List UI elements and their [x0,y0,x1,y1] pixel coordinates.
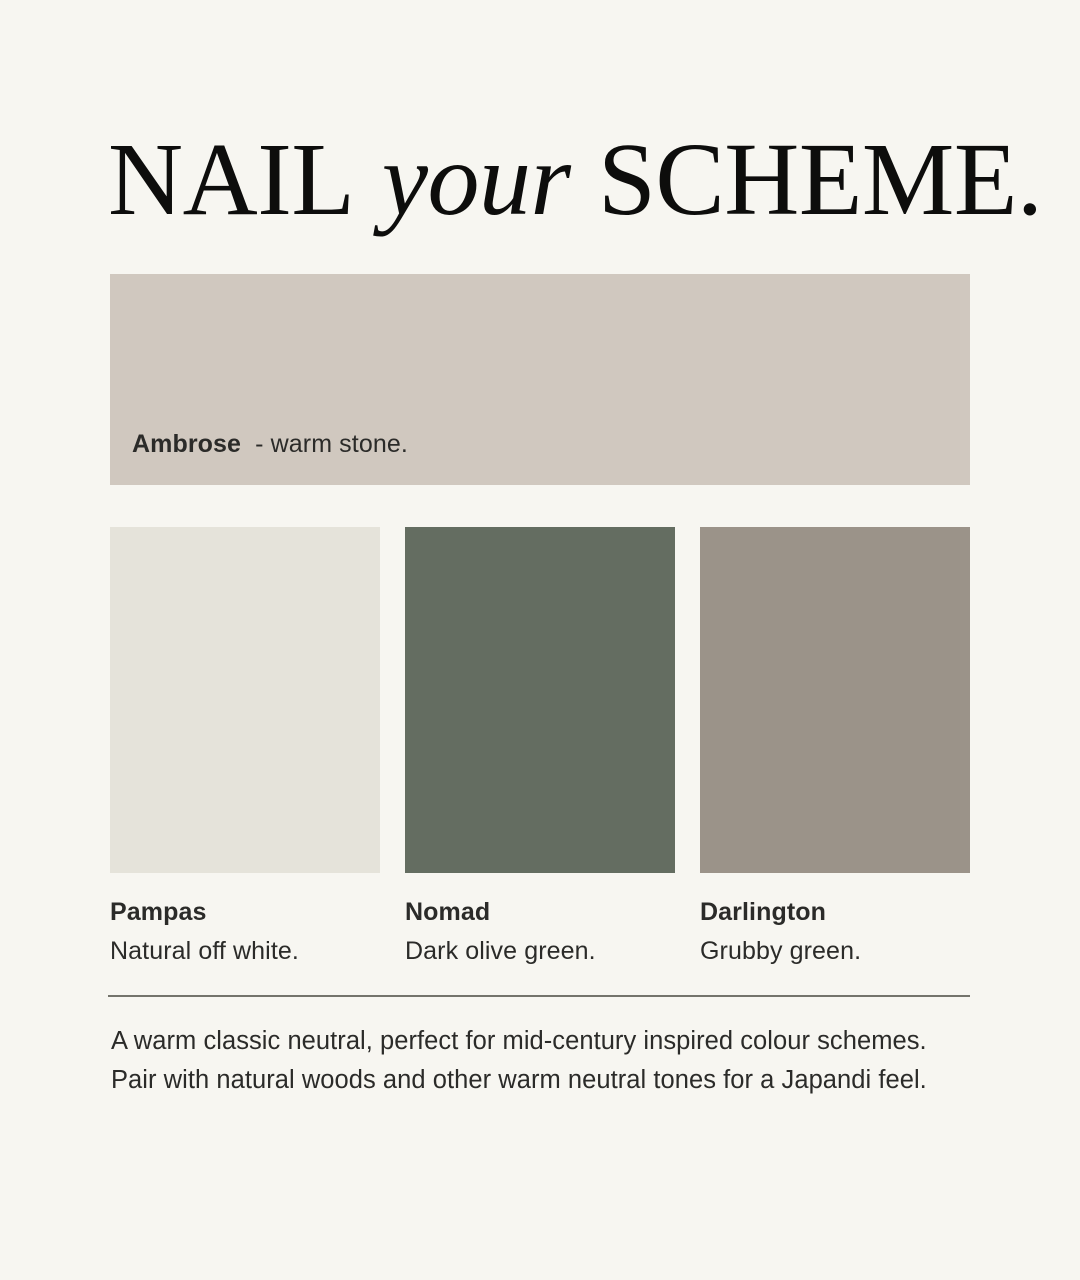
title-emphasis-word: your [380,122,573,237]
swatch-chip-pampas [110,527,380,873]
swatch-item-nomad: Nomad Dark olive green. [405,527,675,966]
swatch-description-nomad: Dark olive green. [405,936,675,966]
description-paragraph: A warm classic neutral, perfect for mid-… [111,1022,973,1100]
title-part-one: NAIL [108,122,354,237]
swatch-description-pampas: Natural off white. [110,936,380,966]
page-title: NAIL your SCHEME. [108,128,978,232]
hero-swatch-label: Ambrose - warm stone. [132,429,408,459]
color-palette-card: NAIL your SCHEME. Ambrose - warm stone. … [0,0,1080,1280]
swatch-chip-nomad [405,527,675,873]
swatch-item-darlington: Darlington Grubby green. [700,527,970,966]
swatch-chip-darlington [700,527,970,873]
hero-swatch-description: - warm stone. [255,430,408,458]
swatch-name-pampas: Pampas [110,897,380,927]
swatch-name-darlington: Darlington [700,897,970,927]
swatch-item-pampas: Pampas Natural off white. [110,527,380,966]
hero-swatch-name: Ambrose [132,430,241,458]
swatch-row: Pampas Natural off white. Nomad Dark oli… [110,527,970,966]
title-part-two: SCHEME. [598,122,1042,237]
section-divider [108,995,970,997]
swatch-name-nomad: Nomad [405,897,675,927]
swatch-description-darlington: Grubby green. [700,936,970,966]
hero-color-swatch-ambrose: Ambrose - warm stone. [110,274,970,485]
